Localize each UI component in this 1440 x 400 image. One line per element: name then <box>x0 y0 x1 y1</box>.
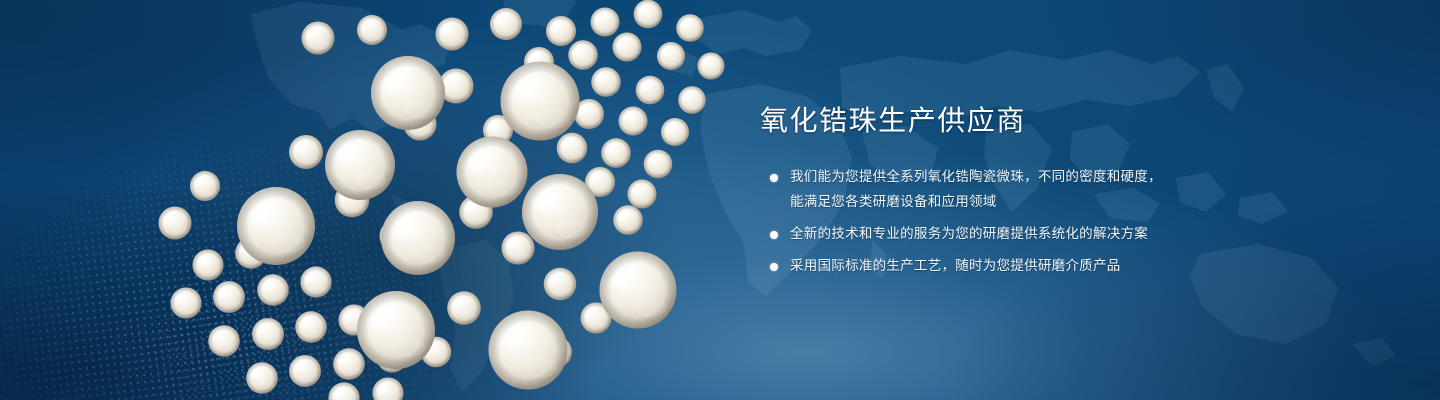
list-item: 我们能为您提供全系列氧化锆陶瓷微珠，不同的密度和硬度， 能满足您各类研磨设备和应… <box>760 165 1220 215</box>
dot-bullet-icon <box>770 263 778 271</box>
dot-bullet-icon <box>770 231 778 239</box>
list-item-line: 能满足您各类研磨设备和应用领域 <box>790 190 1220 215</box>
list-item-line: 全新的技术和专业的服务为您的研磨提供系统化的解决方案 <box>790 222 1220 247</box>
dot-bullet-icon <box>770 174 778 182</box>
list-item-line: 我们能为您提供全系列氧化锆陶瓷微珠，不同的密度和硬度， <box>790 165 1220 190</box>
feature-list: 我们能为您提供全系列氧化锆陶瓷微珠，不同的密度和硬度， 能满足您各类研磨设备和应… <box>760 165 1220 279</box>
list-item: 采用国际标准的生产工艺，随时为您提供研磨介质产品 <box>760 254 1220 279</box>
list-item-line: 采用国际标准的生产工艺，随时为您提供研磨介质产品 <box>790 254 1220 279</box>
zirconia-beads-image <box>0 0 740 400</box>
hero-banner: 氧化锆珠生产供应商 我们能为您提供全系列氧化锆陶瓷微珠，不同的密度和硬度， 能满… <box>0 0 1440 400</box>
list-item: 全新的技术和专业的服务为您的研磨提供系统化的解决方案 <box>760 222 1220 247</box>
banner-copy: 氧化锆珠生产供应商 我们能为您提供全系列氧化锆陶瓷微珠，不同的密度和硬度， 能满… <box>760 104 1220 279</box>
page-title: 氧化锆珠生产供应商 <box>760 104 1220 137</box>
